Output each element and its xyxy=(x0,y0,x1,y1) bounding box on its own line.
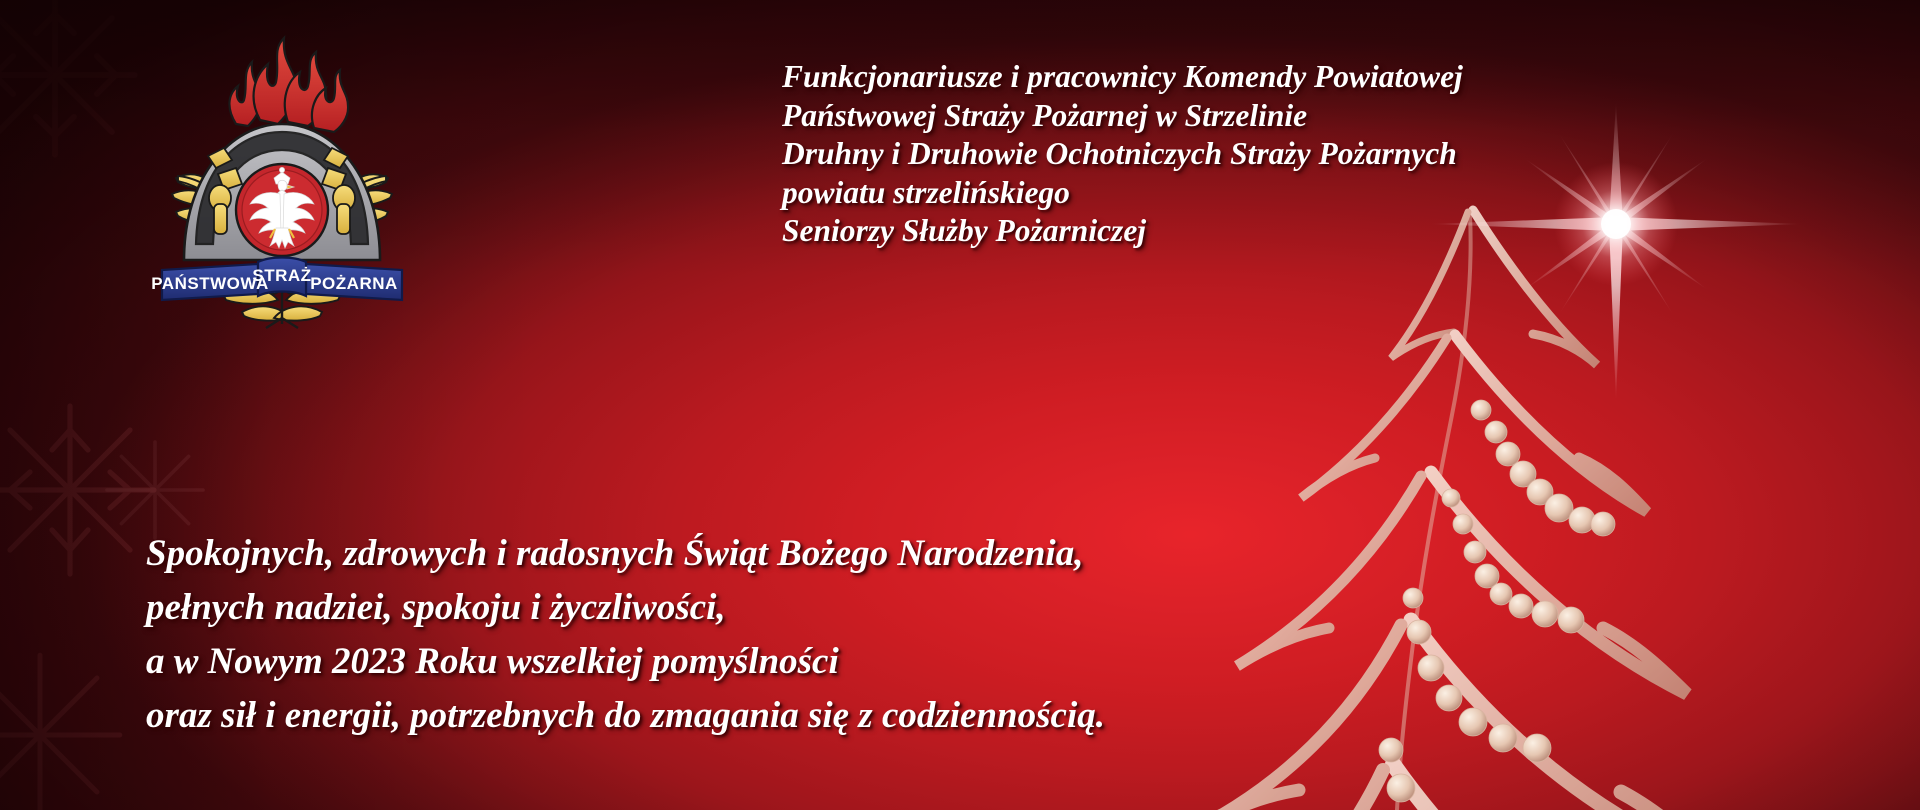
emblem-banner-center: STRAŻ xyxy=(252,266,311,285)
addressee-line-5: Seniorzy Służby Pożarniczej xyxy=(782,212,1463,251)
greeting-line-2: pełnych nadziei, spokoju i życzliwości, xyxy=(146,581,1105,635)
greeting-line-4: oraz sił i energii, potrzebnych do zmaga… xyxy=(146,689,1105,743)
addressee-line-2: Państwowej Straży Pożarnej w Strzelinie xyxy=(782,97,1463,136)
emblem-banner-left: PAŃSTWOWA xyxy=(151,274,269,293)
emblem-banner-right: POŻARNA xyxy=(310,274,398,293)
addressee-block: Funkcjonariusze i pracownicy Komendy Pow… xyxy=(782,58,1463,251)
greeting-line-3: a w Nowym 2023 Roku wszelkiej pomyślnośc… xyxy=(146,635,1105,689)
addressee-line-3: Druhny i Druhowie Ochotniczych Straży Po… xyxy=(782,135,1463,174)
christmas-greeting-card: PAŃSTWOWA STRAŻ POŻARNA Funkcjonariusze … xyxy=(0,0,1920,810)
addressee-line-4: powiatu strzelińskiego xyxy=(782,174,1463,213)
addressee-line-1: Funkcjonariusze i pracownicy Komendy Pow… xyxy=(782,58,1463,97)
greeting-block: Spokojnych, zdrowych i radosnych Świąt B… xyxy=(146,527,1105,743)
greeting-line-1: Spokojnych, zdrowych i radosnych Świąt B… xyxy=(146,527,1105,581)
panstwowa-straz-pozarna-emblem: PAŃSTWOWA STRAŻ POŻARNA xyxy=(148,28,416,333)
